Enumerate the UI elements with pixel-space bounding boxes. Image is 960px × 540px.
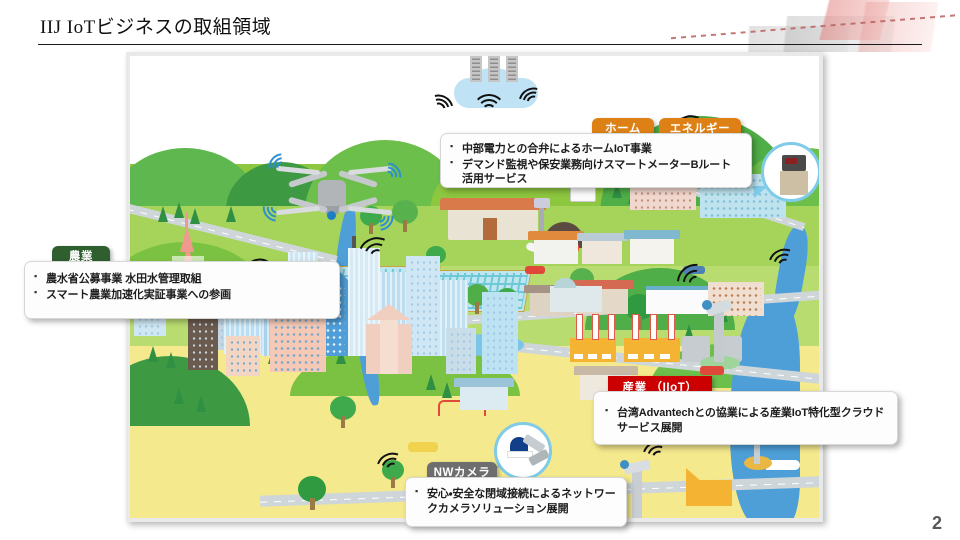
taxi-icon [408,442,438,452]
farm-barn-roof [440,198,546,210]
farm-barn-door [483,218,497,240]
slide-root: IIJ IoTビジネスの取組領域 2 [0,0,960,540]
city-building-dark [188,318,218,370]
house-icon [534,238,578,264]
server-icon [506,56,518,82]
pine-tree [190,208,200,224]
callout-home-bullet-2: デマンド監視や保安業務向けスマートメーターBルート活用サービス [449,158,741,187]
smokestack [608,314,615,340]
house-icon [460,386,508,410]
pine-tree [196,396,206,412]
callout-industry-bullet-1: 台湾Advantechとの協業による産業IoT特化型クラウドサービス展開 [604,406,887,435]
plant-building [550,286,602,312]
smokestack [668,314,675,340]
smokestack [592,314,599,340]
house-roof [624,230,680,239]
pine-tree [442,382,452,398]
ribbon-dashed-line [671,14,960,39]
city-building [446,328,476,374]
house-roof [454,378,514,387]
sensor-box-3 [534,198,550,208]
city-building-roof [367,304,411,320]
house-roof [528,231,584,240]
tokyo-tower-antenna [185,212,188,228]
city-building-pink [398,324,412,374]
city-building-pink [366,324,380,374]
pine-tree [174,388,184,404]
pine-tree [148,346,158,362]
bay-pole [754,444,760,464]
car-icon [525,266,545,274]
title-underline [38,44,922,45]
round-tree [330,396,356,428]
car-icon [700,366,724,375]
pine-tree [158,206,168,222]
city-camera-lens [620,460,629,469]
camera-lens [702,300,712,310]
round-tree [298,476,326,510]
city-building-pink [380,316,398,374]
factory-bottom-icon [686,480,732,506]
callout-nwcam-bullet-1: 安心・安全な閉域接続によるネットワークカメラソリューション展開 [414,487,618,516]
smokestack [576,314,583,340]
factory-bottom-roof [686,468,702,482]
city-camera-pole [632,468,642,518]
callout-home-bullet-1: 中部電力との合弁によるホームIoT事業 [449,142,741,157]
pine-tree [166,352,176,368]
pine-tree [226,206,236,222]
callout-home-energy: 中部電力との合弁によるホームIoT事業 デマンド監視や保安業務向けスマートメータ… [440,133,752,188]
city-building [482,292,518,374]
house-icon [582,240,622,264]
smart-meter-bubble-tail [754,186,768,198]
drone-camera-lens [327,211,336,220]
server-icon [470,56,482,82]
callout-nw-camera: 安心・安全な閉域接続によるネットワークカメラソリューション展開 [405,477,627,527]
pine-tree [426,374,436,390]
page-title: IIJ IoTビジネスの取組領域 [40,12,271,39]
ribbon-pink-swoosh [734,0,960,40]
smart-meter-bubble [761,142,819,202]
city-building-pink [270,314,326,372]
city-building-pink [226,336,260,376]
pine-tree [174,202,184,218]
house-icon [630,238,674,264]
page-number: 2 [932,513,942,534]
ribbon-gray-swoosh-2 [710,26,900,52]
smokestack [632,314,639,340]
house-roof [577,233,627,241]
smokestack [650,314,657,340]
callout-agri-bullet-1: 農水省公募事業 水田水管理取組 [33,272,329,287]
camera-pole [714,308,724,362]
callout-industry: 台湾Advantechとの協業による産業IoT特化型クラウドサービス展開 [593,391,898,445]
nw-camera-bubble [494,422,552,480]
round-tree [392,200,418,232]
callout-agriculture: 農水省公募事業 水田水管理取組 スマート農業加速化実証事業への参画 [24,261,340,319]
house-roof [574,366,638,375]
callout-agri-bullet-2: スマート農業加速化実証事業への参画 [33,288,329,303]
smart-meter-body [780,171,808,195]
ribbon-gray-swoosh [705,16,960,52]
tokyo-tower-top [180,226,194,252]
server-icon [488,56,500,82]
